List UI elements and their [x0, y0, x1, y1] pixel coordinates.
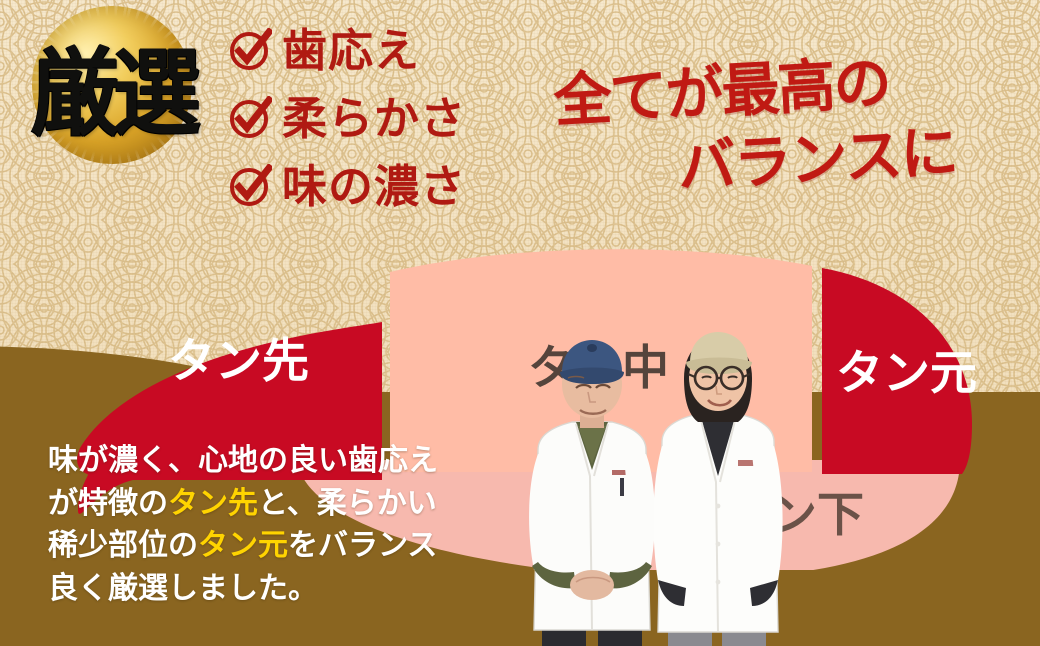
- seal-text: 厳選: [18, 0, 208, 180]
- description-line: 味が濃く、心地の良い歯応え: [48, 440, 518, 483]
- checklist-item: 柔らかさ: [228, 84, 548, 152]
- circle-check-icon: [228, 28, 272, 72]
- description-line: が特徴のタン先と、柔らかい: [48, 483, 518, 526]
- craftsmen-photo: [520, 330, 788, 646]
- checklist-item: 歯応え: [228, 16, 548, 84]
- circle-check-icon: [228, 96, 272, 140]
- gensen-seal: 厳選: [18, 2, 208, 177]
- tongue-label-saki: タン先: [168, 338, 309, 385]
- banner-root: 厳選 歯応え 柔らかさ: [0, 0, 1040, 646]
- checklist-item-label: 歯応え: [282, 28, 420, 73]
- checklist-item-label: 柔らかさ: [282, 96, 466, 141]
- person-left: [529, 340, 655, 646]
- description-line: 稀少部位のタン元をバランス: [48, 525, 518, 568]
- person-right: [653, 332, 782, 646]
- highlight-tan-saki: タン先: [168, 486, 258, 521]
- description-line: 良く厳選しました。: [48, 568, 518, 611]
- checklist-item-label: 味の濃さ: [282, 164, 466, 209]
- description-text: 味が濃く、心地の良い歯応えが特徴のタン先と、柔らかい稀少部位のタン元をバランス良…: [48, 440, 518, 610]
- tongue-label-moto: タン元: [836, 350, 977, 397]
- headline-line-2: バランスに: [675, 105, 958, 204]
- highlight-tan-moto: タン元: [198, 528, 288, 563]
- feature-checklist: 歯応え 柔らかさ 味の濃さ: [228, 16, 548, 220]
- circle-check-icon: [228, 164, 272, 208]
